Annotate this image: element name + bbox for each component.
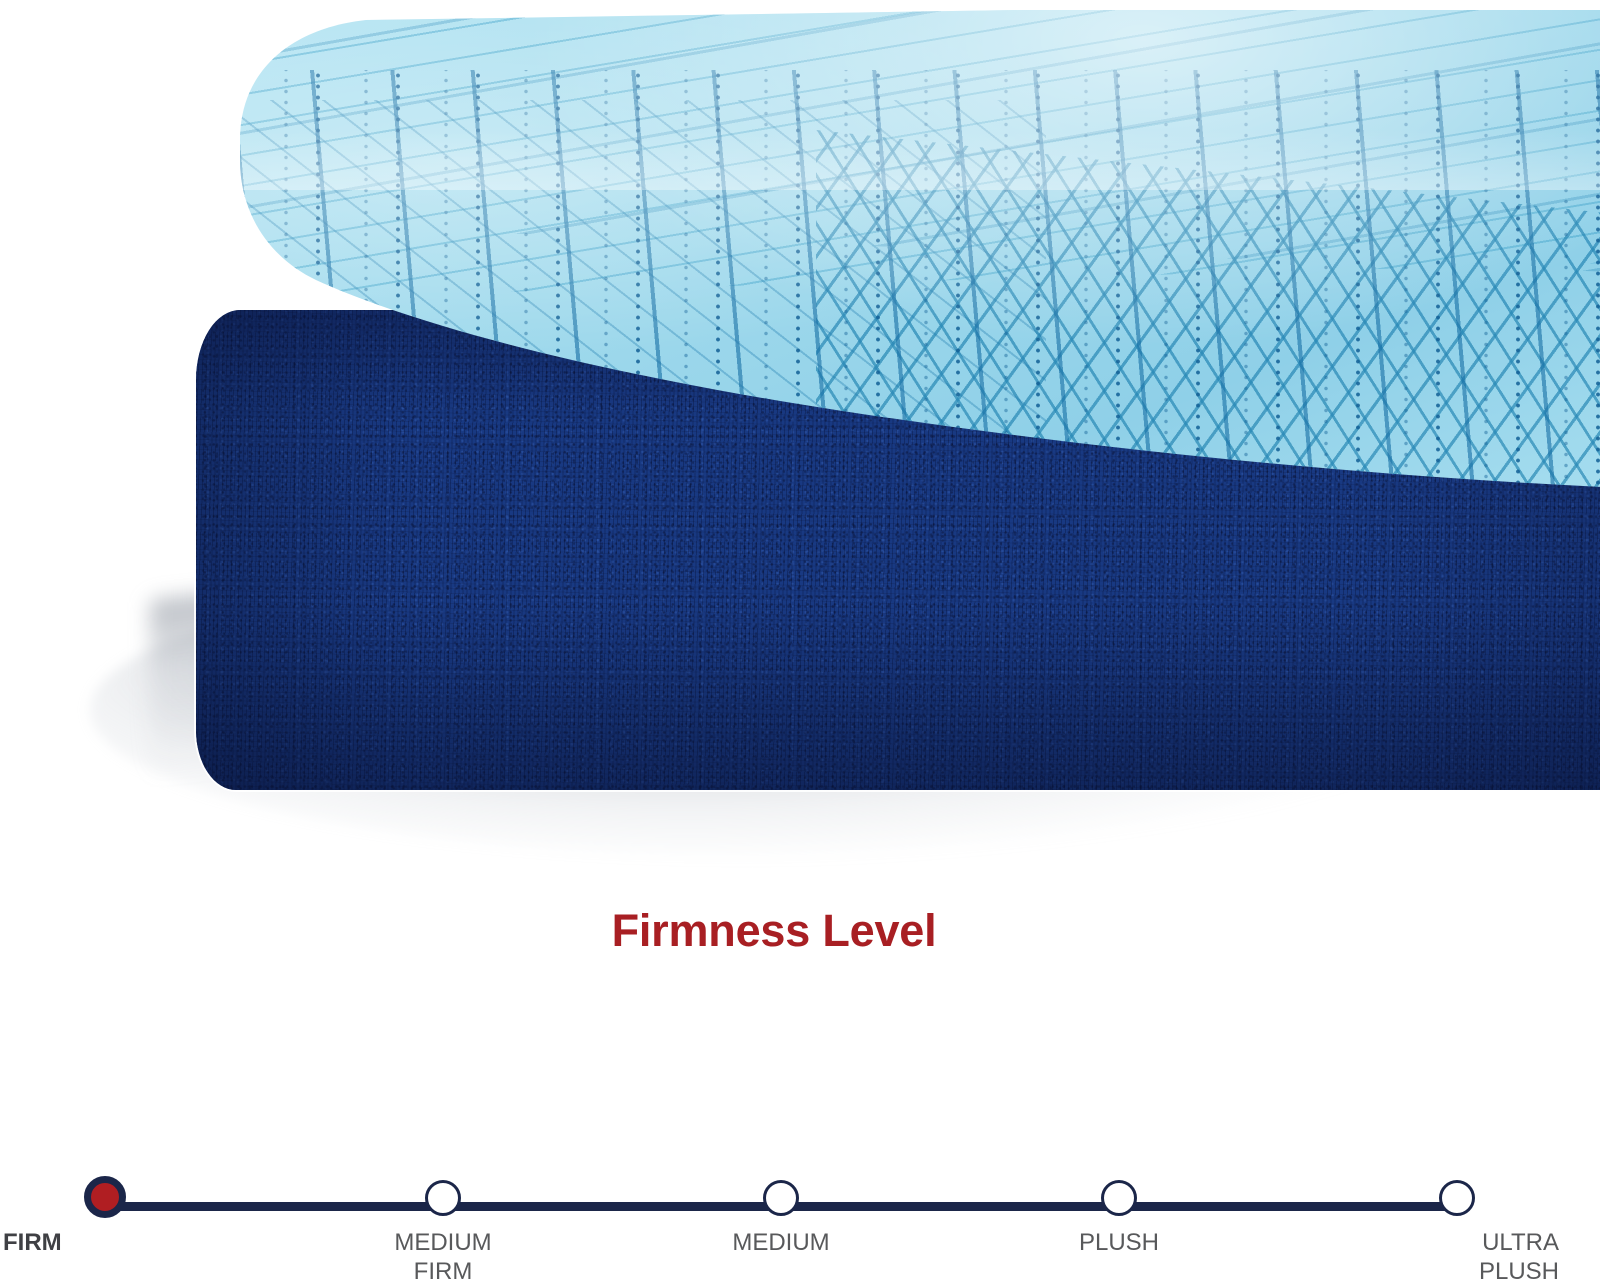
firmness-label-firm: FIRM xyxy=(3,1228,243,1257)
firmness-label-medium-firm: MEDIUM FIRM xyxy=(323,1228,563,1286)
firmness-label-medium: MEDIUM xyxy=(661,1228,901,1257)
firmness-marker[interactable] xyxy=(1439,1180,1475,1216)
firmness-marker[interactable] xyxy=(1101,1180,1137,1216)
firmness-marker[interactable] xyxy=(763,1180,799,1216)
firmness-label-ultra-plush: ULTRA PLUSH xyxy=(1319,1228,1559,1286)
firmness-scale: FIRM MEDIUM FIRM MEDIUM PLUSH ULTRA PLUS… xyxy=(0,1030,1600,1190)
firmness-marker[interactable] xyxy=(425,1180,461,1216)
firmness-title: Firmness Level xyxy=(0,905,1548,957)
firmness-level-section: Firmness Level FIRM MEDIUM FIRM MEDIUM P… xyxy=(0,880,1600,1200)
firmness-label-plush: PLUSH xyxy=(999,1228,1239,1257)
firmness-marker-selected[interactable] xyxy=(84,1176,126,1218)
mattress xyxy=(196,10,1600,810)
product-image xyxy=(0,0,1600,880)
